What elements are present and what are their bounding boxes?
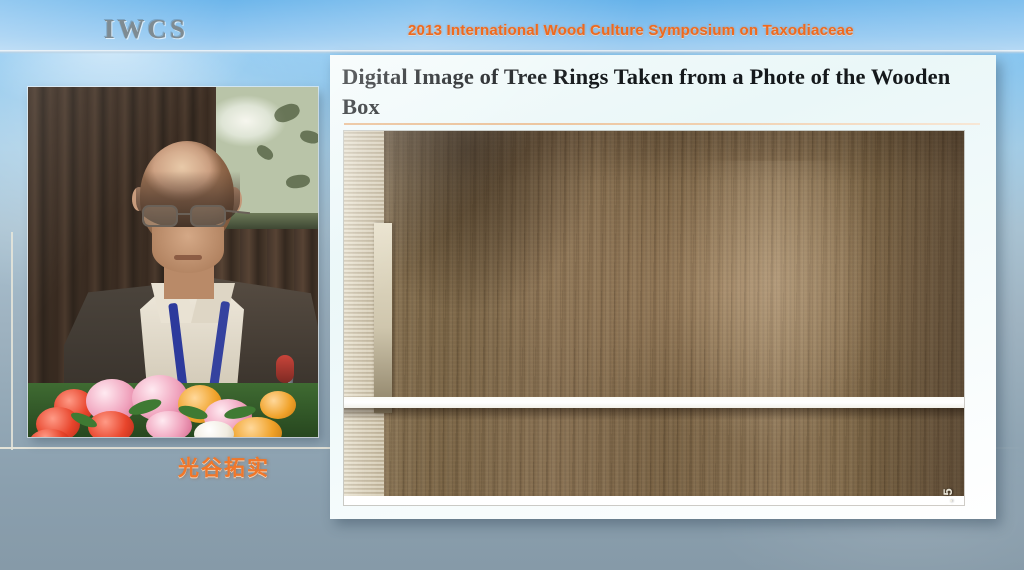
- event-title: 2013 International Wood Culture Symposiu…: [408, 22, 854, 39]
- photo-separation-band: [344, 397, 964, 408]
- speaker-photo: [28, 87, 318, 437]
- eyeglass-bridge: [178, 213, 190, 215]
- iwcs-logo: IWCS: [104, 14, 188, 45]
- wood-shadow: [344, 408, 964, 420]
- banner-divider-line: [0, 50, 1024, 54]
- scale-measurement-label: 72.5: [941, 487, 956, 505]
- eyeglass-lens: [142, 205, 178, 227]
- broadcast-stage: IWCS 2013 International Wood Culture Sym…: [0, 0, 1024, 570]
- eyeglass-lens: [190, 205, 226, 227]
- slide-title: Digital Image of Tree Rings Taken from a…: [342, 62, 982, 121]
- speaker-video-panel[interactable]: [28, 87, 318, 437]
- vertical-guide-line: [11, 232, 13, 450]
- photo-bottom-border: [344, 496, 964, 505]
- speaker-face: [152, 227, 224, 273]
- eyeglasses-icon: [138, 205, 238, 227]
- slide-title-underline: [344, 123, 980, 125]
- flower-arrangement: [28, 355, 318, 437]
- slide-content: Digital Image of Tree Rings Taken from a…: [330, 55, 996, 519]
- presentation-slide[interactable]: Digital Image of Tree Rings Taken from a…: [330, 55, 996, 519]
- speaker-name-caption: 光谷拓实: [178, 452, 298, 482]
- wooden-box-photo: 72.5: [344, 131, 964, 505]
- flower-blossom: [260, 391, 296, 419]
- speaker-mouth: [174, 255, 202, 260]
- reference-card: [374, 223, 392, 413]
- wood-shadow: [384, 131, 594, 311]
